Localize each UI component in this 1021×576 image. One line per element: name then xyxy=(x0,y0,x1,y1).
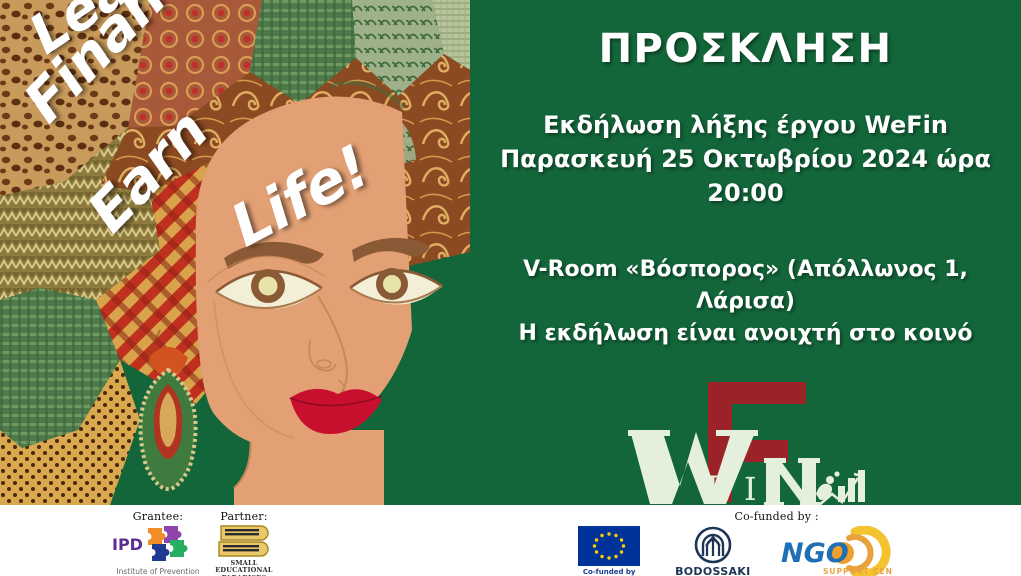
ngo-logo-icon: NGO SUPPORT CENTRE xyxy=(777,526,893,576)
svg-text:E: E xyxy=(706,469,731,509)
ngo-wordmark: NGO xyxy=(781,538,849,569)
partner-group: Partner: SMALL EDUCATIONAL PARADISES xyxy=(213,510,275,576)
event-headline-block: Εκδήλωση λήξης έργου WeFin Παρασκευή 25 … xyxy=(470,72,1021,210)
grantee-group: Grantee: IPD Institute of Prevention and… xyxy=(108,510,208,576)
event-name: Εκδήλωση λήξης έργου WeFin xyxy=(470,108,1021,142)
bodossaki-logo: BODOSSAKI FOUNDATION xyxy=(670,526,755,576)
event-venue: V-Room «Βόσπορος» (Απόλλωνος 1, Λάρισα) xyxy=(470,254,1021,318)
svg-text:I: I xyxy=(744,470,757,508)
artwork-illustration xyxy=(0,0,470,505)
invitation-poster: Learn Finance Earn Life! ΠΡΟΣΚΛΗΣΗ Εκδήλ… xyxy=(0,0,1021,576)
event-open-note: Η εκδήλωση είναι ανοιχτή στο κοινό xyxy=(470,318,1021,350)
ipd-logo: IPD xyxy=(108,524,208,566)
event-info-panel: ΠΡΟΣΚΛΗΣΗ Εκδήλωση λήξης έργου WeFin Παρ… xyxy=(470,0,1021,505)
ngo-support-centre-logo: NGO SUPPORT CENTRE xyxy=(777,526,893,576)
puzzle-pieces-icon xyxy=(148,526,187,561)
ipd-caption-line1: Institute of Prevention xyxy=(116,567,199,576)
eu-logo: Co-funded by the European Union xyxy=(570,526,648,576)
footer-logo-bar: Grantee: IPD Institute of Prevention and… xyxy=(0,505,1021,576)
invitation-title: ΠΡΟΣΚΛΗΣΗ xyxy=(599,26,893,72)
books-icon xyxy=(213,524,275,560)
wefin-letter-e: E xyxy=(706,469,731,509)
growth-chart-icon xyxy=(816,470,865,506)
wefin-letter-w xyxy=(628,430,758,504)
wefin-letter-i: I xyxy=(744,470,757,508)
eu-flag-icon xyxy=(578,526,640,566)
partner-caption: Partner: xyxy=(220,510,267,523)
cofunded-group: Co-funded by : xyxy=(570,510,893,576)
ipd-wordmark: IPD xyxy=(112,535,143,554)
grantee-caption: Grantee: xyxy=(133,510,183,523)
eu-caption-line1: Co-funded by xyxy=(583,568,636,576)
venue-block: V-Room «Βόσπορος» (Απόλλωνος 1, Λάρισα) … xyxy=(470,232,1021,350)
bodossaki-name-line1: BODOSSAKI xyxy=(675,566,750,576)
wefin-letter-n xyxy=(764,458,820,506)
bodossaki-emblem-icon xyxy=(693,526,733,564)
event-date: Παρασκευή 25 Οκτωβρίου 2024 ώρα 20:00 xyxy=(470,142,1021,210)
cofunded-caption: Co-funded by : xyxy=(734,510,818,523)
ngo-subtitle: SUPPORT CENTRE xyxy=(823,567,893,576)
